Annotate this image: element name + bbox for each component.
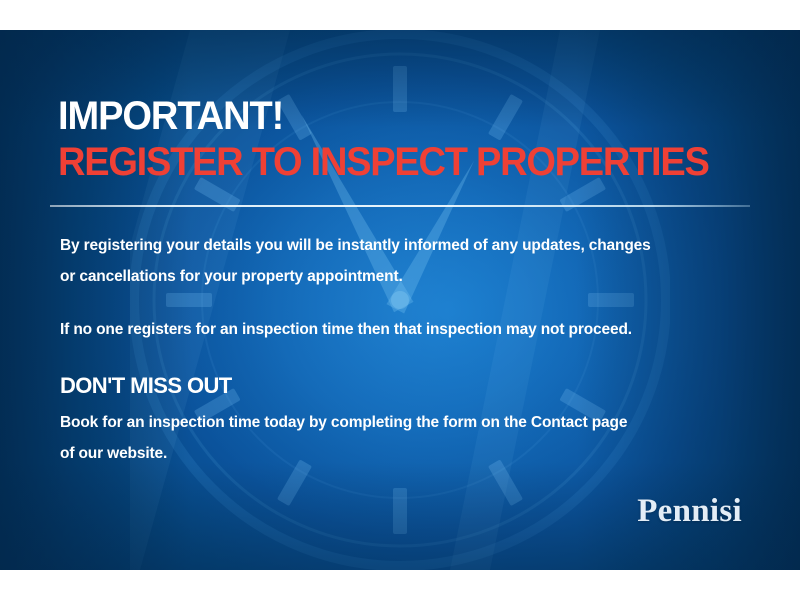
subheading-dont-miss-out: DON'T MISS OUT: [60, 371, 760, 401]
headline-line-1: IMPORTANT!: [58, 95, 734, 137]
headline-line-2: REGISTER TO INSPECT PROPERTIES: [58, 139, 734, 185]
poster-content: IMPORTANT! REGISTER TO INSPECT PROPERTIE…: [0, 30, 800, 570]
poster-canvas: IMPORTANT! REGISTER TO INSPECT PROPERTIE…: [0, 0, 800, 600]
horizontal-divider: [50, 205, 750, 207]
headline-block: IMPORTANT! REGISTER TO INSPECT PROPERTIE…: [58, 95, 770, 185]
paragraph-no-registrations: If no one registers for an inspection ti…: [60, 314, 760, 345]
blue-banner: IMPORTANT! REGISTER TO INSPECT PROPERTIE…: [0, 30, 800, 570]
pennisi-logo: Pennisi: [637, 494, 742, 528]
body-text-block: By registering your details you will be …: [60, 230, 760, 469]
paragraph-registering-details: By registering your details you will be …: [60, 230, 760, 292]
paragraph-book-inspection: Book for an inspection time today by com…: [60, 407, 760, 469]
